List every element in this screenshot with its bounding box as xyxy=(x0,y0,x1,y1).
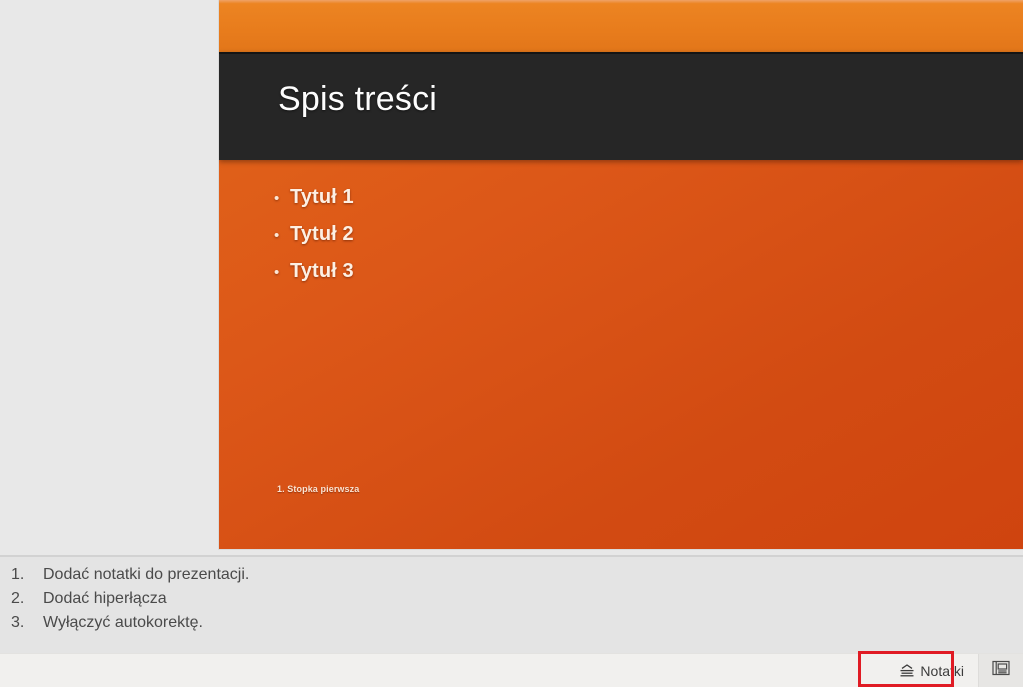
slide-surface[interactable]: Spis treści • Tytuł 1 • Tytuł 2 • Tytuł … xyxy=(219,0,1023,549)
slide-bullet-text: Tytuł 3 xyxy=(290,260,354,283)
slide-bullet-item[interactable]: • Tytuł 3 xyxy=(274,260,894,297)
slide-footer-text[interactable]: 1. Stopka pierwsza xyxy=(277,484,359,494)
notes-icon xyxy=(898,664,916,678)
slide-top-accent-strip xyxy=(219,0,1023,52)
slide-canvas-area: Spis treści • Tytuł 1 • Tytuł 2 • Tytuł … xyxy=(0,0,1023,556)
slide-title-text[interactable]: Spis treści xyxy=(278,80,437,119)
status-bar-right-group: Notatki xyxy=(892,654,1023,687)
slide-bullet-item[interactable]: • Tytuł 2 xyxy=(274,223,894,260)
slide-title-band: Spis treści xyxy=(219,52,1023,160)
notes-list-item: 2. Dodać hiperłącza xyxy=(8,590,988,614)
status-bar: Notatki xyxy=(0,653,1023,687)
notes-toggle-button[interactable]: Notatki xyxy=(892,658,972,684)
notes-item-number: 1. xyxy=(8,566,43,584)
notes-item-text: Wyłączyć autokorektę. xyxy=(43,614,203,632)
slide-body-placeholder[interactable]: • Tytuł 1 • Tytuł 2 • Tytuł 3 xyxy=(274,186,894,297)
slide-bullet-text: Tytuł 2 xyxy=(290,223,354,246)
reading-view-icon xyxy=(992,660,1010,681)
slide-bullet-item[interactable]: • Tytuł 1 xyxy=(274,186,894,223)
notes-list: 1. Dodać notatki do prezentacji. 2. Doda… xyxy=(8,566,988,638)
notes-item-text: Dodać notatki do prezentacji. xyxy=(43,566,249,584)
bullet-dot-icon: • xyxy=(274,191,290,206)
notes-item-text: Dodać hiperłącza xyxy=(43,590,167,608)
bullet-dot-icon: • xyxy=(274,265,290,280)
reading-view-button[interactable] xyxy=(978,654,1023,687)
bullet-dot-icon: • xyxy=(274,228,290,243)
slide-bullet-text: Tytuł 1 xyxy=(290,186,354,209)
notes-item-number: 3. xyxy=(8,614,43,632)
notes-list-item: 3. Wyłączyć autokorektę. xyxy=(8,614,988,638)
notes-toggle-label: Notatki xyxy=(920,663,964,679)
notes-list-item: 1. Dodać notatki do prezentacji. xyxy=(8,566,988,590)
notes-item-number: 2. xyxy=(8,590,43,608)
notes-pane[interactable]: 1. Dodać notatki do prezentacji. 2. Doda… xyxy=(0,557,1023,653)
powerpoint-editor-window: Spis treści • Tytuł 1 • Tytuł 2 • Tytuł … xyxy=(0,0,1023,686)
